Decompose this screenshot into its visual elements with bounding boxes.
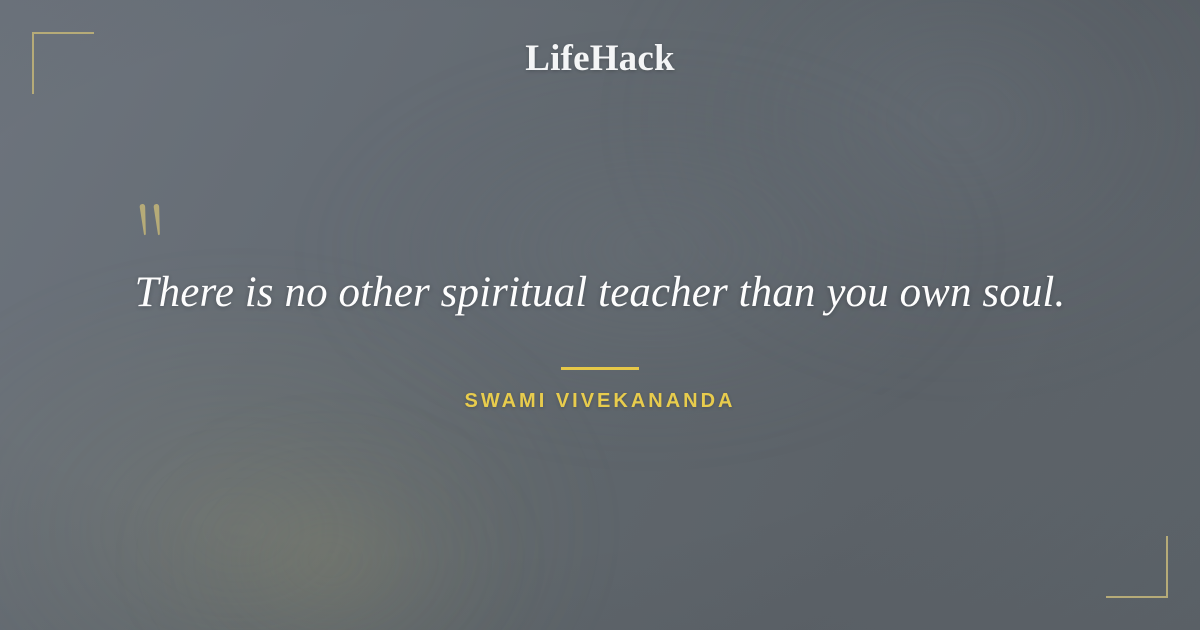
brand-logo[interactable]: LifeHack: [0, 40, 1200, 77]
quotation-mark-icon: [133, 202, 173, 242]
divider-line: [561, 367, 639, 370]
corner-bracket-bottom-right-horizontal: [1106, 596, 1168, 598]
corner-bracket-bottom-right-icon: [1106, 536, 1168, 598]
quote-text: There is no other spiritual teacher than…: [0, 268, 1200, 319]
corner-bracket-top-left-horizontal: [32, 32, 94, 34]
quote-author: SWAMI VIVEKANANDA: [0, 389, 1200, 413]
divider-container: [0, 357, 1200, 375]
corner-bracket-bottom-right-vertical: [1166, 536, 1168, 598]
quote-card: LifeHack There is no other spiritual tea…: [0, 0, 1200, 630]
